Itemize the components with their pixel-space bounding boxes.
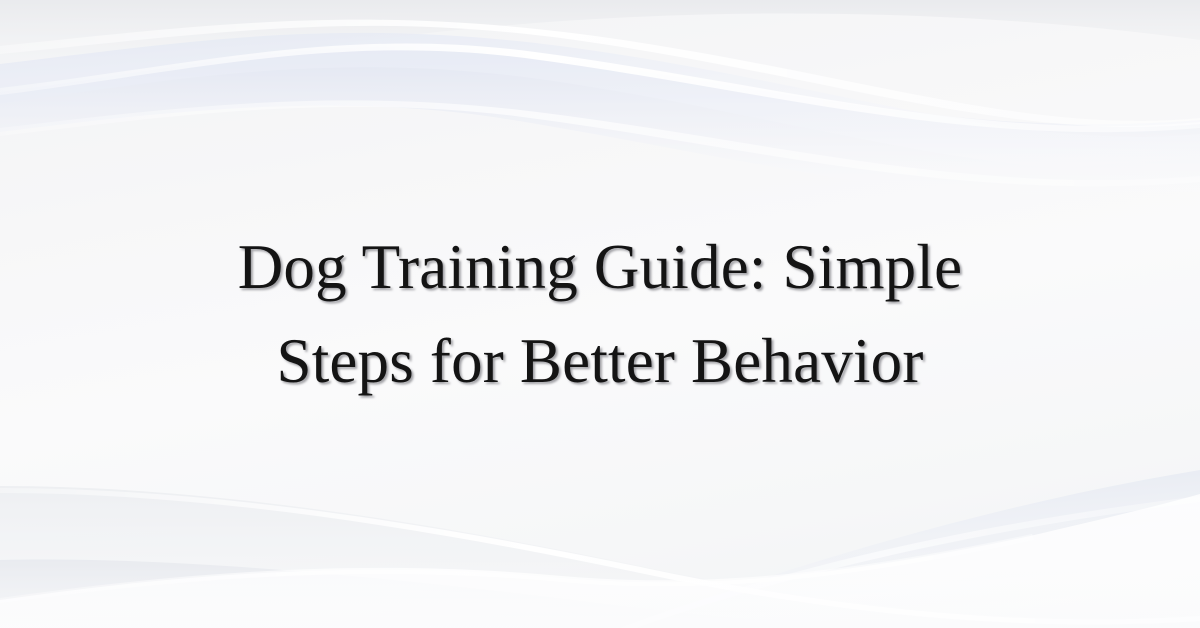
banner-canvas: Dog Training Guide: Simple Steps for Bet… [0,0,1200,628]
title-container: Dog Training Guide: Simple Steps for Bet… [0,0,1200,628]
page-title: Dog Training Guide: Simple Steps for Bet… [90,220,1110,409]
